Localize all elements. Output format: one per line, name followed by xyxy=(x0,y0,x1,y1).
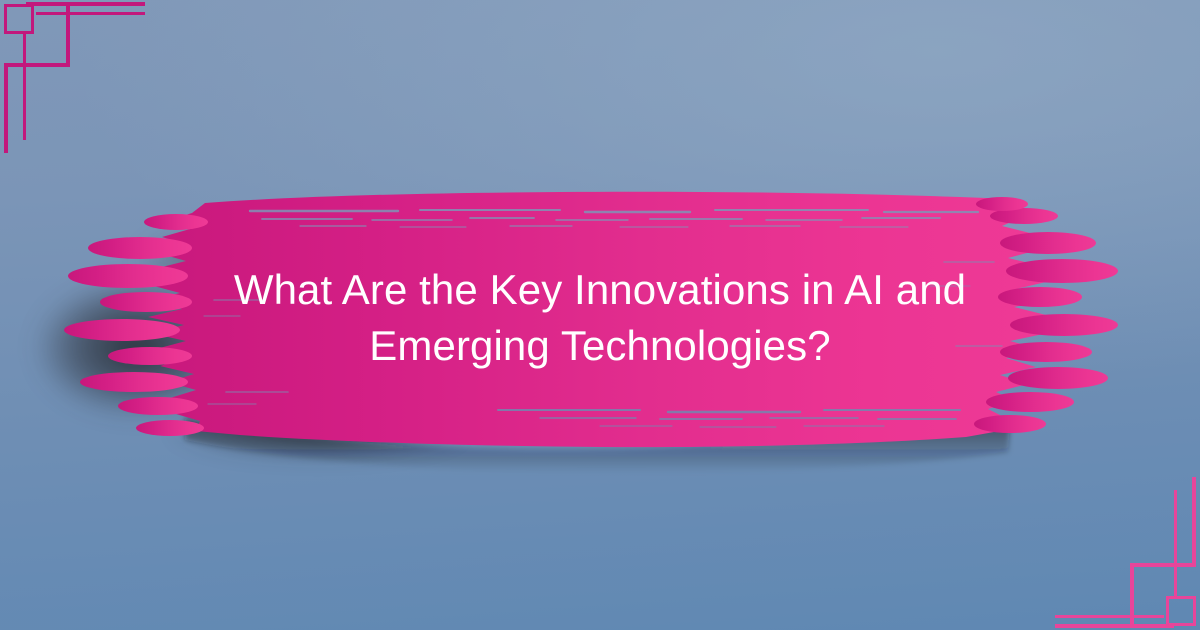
title-card: What Are the Key Innovations in AI and E… xyxy=(0,0,1200,630)
title-block: What Are the Key Innovations in AI and E… xyxy=(180,262,1020,374)
title-line-2: Emerging Technologies? xyxy=(180,318,1020,374)
title-line-1: What Are the Key Innovations in AI and xyxy=(180,262,1020,318)
